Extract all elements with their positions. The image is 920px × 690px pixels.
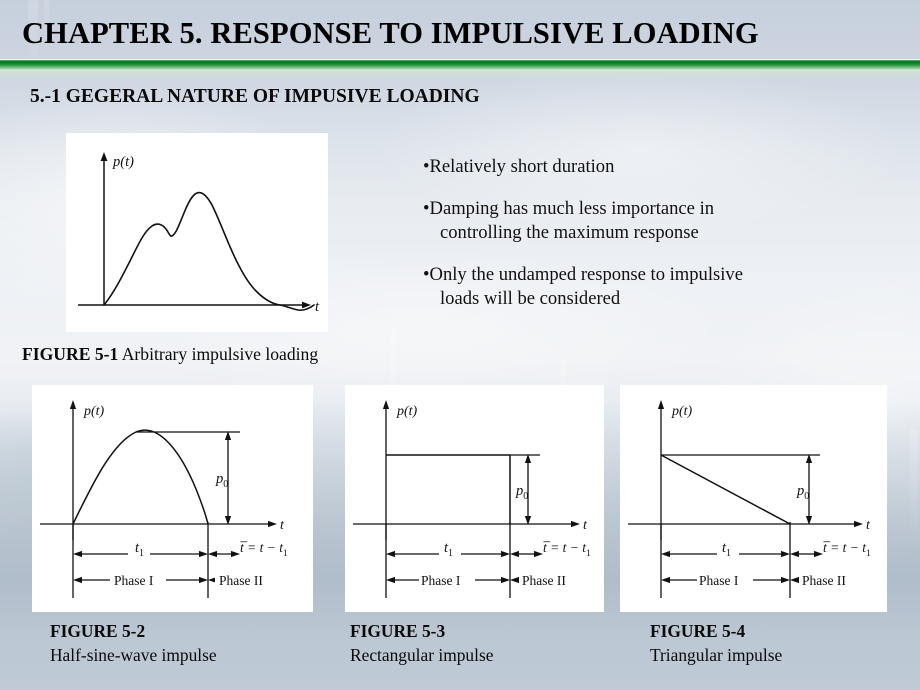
figure-5-4-x-label: t [866,518,871,533]
title-band: CHAPTER 5. RESPONSE TO IMPULSIVE LOADING [0,0,920,62]
figure-5-3-caption-text: Rectangular impulse [350,644,493,668]
accent-divider-shadow [0,71,920,80]
figure-5-4-chart: p(t) t p0 t̅ = t − t1 t1 Phase I Phase I… [620,385,887,612]
figure-5-2-caption: FIGURE 5-2 Half-sine-wave impulse [50,620,217,667]
figure-5-1-x-label: t [315,299,320,315]
figure-5-3-duration-label: t1 [444,540,453,559]
figure-5-2-caption-label: FIGURE 5-2 [50,620,217,644]
figure-5-4-phase2-label: Phase II [802,573,846,588]
figure-5-2-amplitude-label: p0 [215,471,228,490]
figure-5-3-phase2-label: Phase II [522,573,566,588]
figure-5-1-panel: p(t) t [66,133,328,332]
figure-5-2-x-label: t [280,518,285,533]
figure-5-4-caption-text: Triangular impulse [650,644,782,668]
figure-5-4-shifted-time-label: t̅ = t − t1 [823,540,871,559]
figure-5-3-shifted-time-label: t̅ = t − t1 [543,540,591,559]
slide-canvas: CHAPTER 5. RESPONSE TO IMPULSIVE LOADING… [0,0,920,690]
figure-5-1-caption-text: Arbitrary impulsive loading [122,344,318,364]
figure-5-3-chart: p(t) t p0 t̅ = t − t1 t1 Phase I Phase I… [345,385,604,612]
bullet-text: Only the undamped response to impulsive [430,264,743,285]
accent-divider [0,59,920,71]
figure-5-4-panel: p(t) t p0 t̅ = t − t1 t1 Phase I Phase I… [620,385,887,612]
figure-5-3-caption-label: FIGURE 5-3 [350,620,493,644]
list-item: •Relatively short duration [423,155,903,178]
bullet-text-line2: controlling the maximum response [432,221,903,244]
figure-5-3-phase1-label: Phase I [421,573,461,588]
svg-text:t1: t1 [135,540,144,559]
svg-text:Phase I: Phase I [114,573,154,588]
svg-text:Phase II: Phase II [219,573,263,588]
list-item: •Only the undamped response to impulsive… [423,263,903,310]
figure-5-1-caption-label: FIGURE 5-1 [22,344,118,364]
figure-5-3-panel: p(t) t p0 t̅ = t − t1 t1 Phase I Phase I… [345,385,604,612]
figure-5-3-caption: FIGURE 5-3 Rectangular impulse [350,620,493,667]
bullet-text: Relatively short duration [430,156,615,177]
page-title: CHAPTER 5. RESPONSE TO IMPULSIVE LOADING [22,16,902,51]
figure-5-1-chart: p(t) t [66,133,328,332]
figure-5-3-amplitude-label: p0 [515,483,528,502]
figure-5-2-caption-text: Half-sine-wave impulse [50,644,217,668]
figure-5-4-caption: FIGURE 5-4 Triangular impulse [650,620,782,667]
bullet-text: Damping has much less importance in [430,198,715,219]
figure-5-4-duration-label: t1 [722,540,731,559]
figure-5-1-caption: FIGURE 5-1 Arbitrary impulsive loading [22,344,318,365]
figure-5-2-panel: p(t) t p0 t1 t̅ = t − t1 Phase I Phase I… [32,385,313,612]
figure-5-2-chart: p(t) t p0 t1 t̅ = t − t1 Phase I Phase I… [32,385,313,612]
figure-5-2-shifted-time-label: t̅ = t − t1 [240,540,288,559]
figure-5-2-y-label: p(t) [83,404,105,419]
section-heading: 5.-1 GEGERAL NATURE OF IMPUSIVE LOADING [30,86,480,108]
figure-5-4-caption-label: FIGURE 5-4 [650,620,782,644]
figure-5-4-amplitude-label: p0 [796,483,809,502]
figure-5-3-x-label: t [583,518,588,533]
figure-5-3-y-label: p(t) [396,404,418,419]
bullet-list: •Relatively short duration •Damping has … [423,155,903,329]
figure-5-1-y-label: p(t) [112,154,134,170]
figure-5-4-phase1-label: Phase I [699,573,739,588]
bullet-text-line2: loads will be considered [432,287,903,310]
figure-5-4-y-label: p(t) [671,404,693,419]
list-item: •Damping has much less importance incont… [423,197,903,244]
